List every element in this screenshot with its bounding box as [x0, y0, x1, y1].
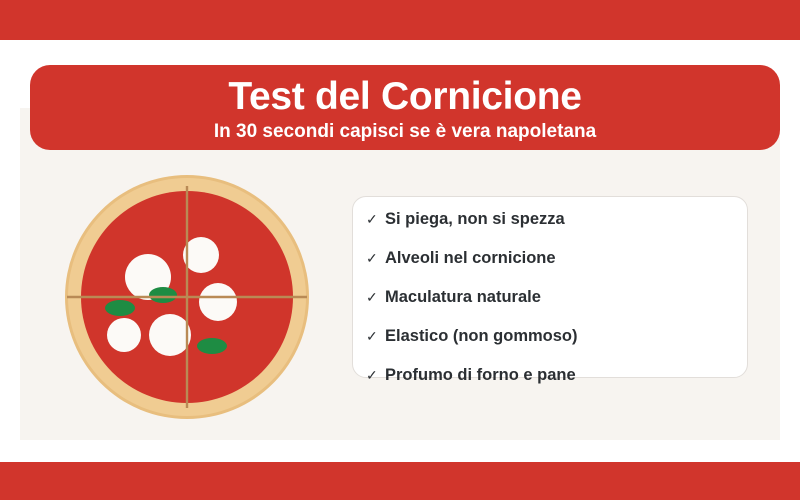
- checklist-item[interactable]: ✓ Profumo di forno e pane: [366, 366, 748, 405]
- page-title: Test del Cornicione: [30, 77, 780, 116]
- pizza-illustration: [62, 172, 312, 422]
- checklist-item[interactable]: ✓ Si piega, non si spezza: [366, 210, 748, 249]
- pizza-svg: [62, 172, 312, 422]
- page-subtitle: In 30 secondi capisci se è vera napoleta…: [30, 122, 780, 141]
- checklist-item-label: Alveoli nel cornicione: [385, 249, 556, 268]
- check-icon: ✓: [366, 211, 385, 228]
- basil-leaf: [105, 300, 135, 316]
- checklist-item-label: Profumo di forno e pane: [385, 366, 576, 385]
- check-icon: ✓: [366, 367, 385, 384]
- mozzarella-blob: [107, 318, 141, 352]
- checklist-item-label: Si piega, non si spezza: [385, 210, 565, 229]
- checklist-item-label: Maculatura naturale: [385, 288, 541, 307]
- checklist-item[interactable]: ✓ Maculatura naturale: [366, 288, 748, 327]
- check-icon: ✓: [366, 289, 385, 306]
- bottom-accent-bar: [0, 462, 800, 500]
- mozzarella-blob: [183, 237, 219, 273]
- mozzarella-blob: [149, 314, 191, 356]
- checklist: ✓ Si piega, non si spezza ✓ Alveoli nel …: [352, 196, 748, 405]
- basil-leaf: [149, 287, 177, 303]
- checklist-item[interactable]: ✓ Alveoli nel cornicione: [366, 249, 748, 288]
- check-icon: ✓: [366, 250, 385, 267]
- top-accent-bar: [0, 0, 800, 40]
- checklist-item[interactable]: ✓ Elastico (non gommoso): [366, 327, 748, 366]
- header-banner: Test del Cornicione In 30 secondi capisc…: [30, 65, 780, 150]
- mozzarella-blob: [199, 283, 237, 321]
- check-icon: ✓: [366, 328, 385, 345]
- checklist-item-label: Elastico (non gommoso): [385, 327, 578, 346]
- basil-leaf: [197, 338, 227, 354]
